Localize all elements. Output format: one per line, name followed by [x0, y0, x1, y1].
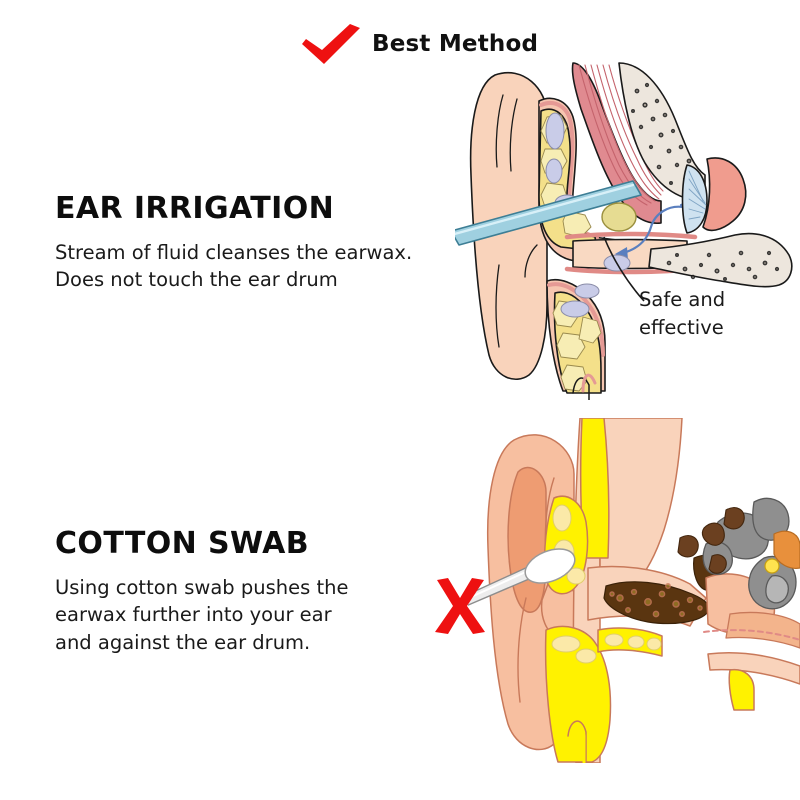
callout-line-2: effective	[639, 314, 725, 342]
cotton-swab-body-line-3: and against the ear drum.	[55, 629, 415, 657]
red-x-icon	[432, 578, 488, 634]
safe-and-effective-callout: Safe and effective	[639, 286, 725, 341]
ear-irrigation-body-line-1: Stream of fluid cleanses the earwax.	[55, 239, 455, 267]
cotton-swab-body-line-1: Using cotton swab pushes the	[55, 574, 415, 602]
cotton-swab-text-block: COTTON SWAB Using cotton swab pushes the…	[55, 528, 415, 657]
ear-irrigation-illustration	[455, 55, 800, 400]
cotton-swab-body: Using cotton swab pushes the earwax furt…	[55, 574, 415, 657]
cotton-swab-illustration	[468, 418, 800, 763]
ear-irrigation-body: Stream of fluid cleanses the earwax. Doe…	[55, 239, 455, 294]
best-method-label: Best Method	[372, 31, 538, 57]
earwax-removal-infographic: Best Method	[0, 0, 800, 800]
callout-line-1: Safe and	[639, 286, 725, 314]
cotton-swab-title: COTTON SWAB	[55, 528, 415, 560]
ear-irrigation-title: EAR IRRIGATION	[55, 193, 455, 225]
red-check-icon	[300, 22, 362, 66]
cotton-swab-body-line-2: earwax further into your ear	[55, 601, 415, 629]
ear-irrigation-body-line-2: Does not touch the ear drum	[55, 266, 455, 294]
ear-irrigation-text-block: EAR IRRIGATION Stream of fluid cleanses …	[55, 193, 455, 294]
